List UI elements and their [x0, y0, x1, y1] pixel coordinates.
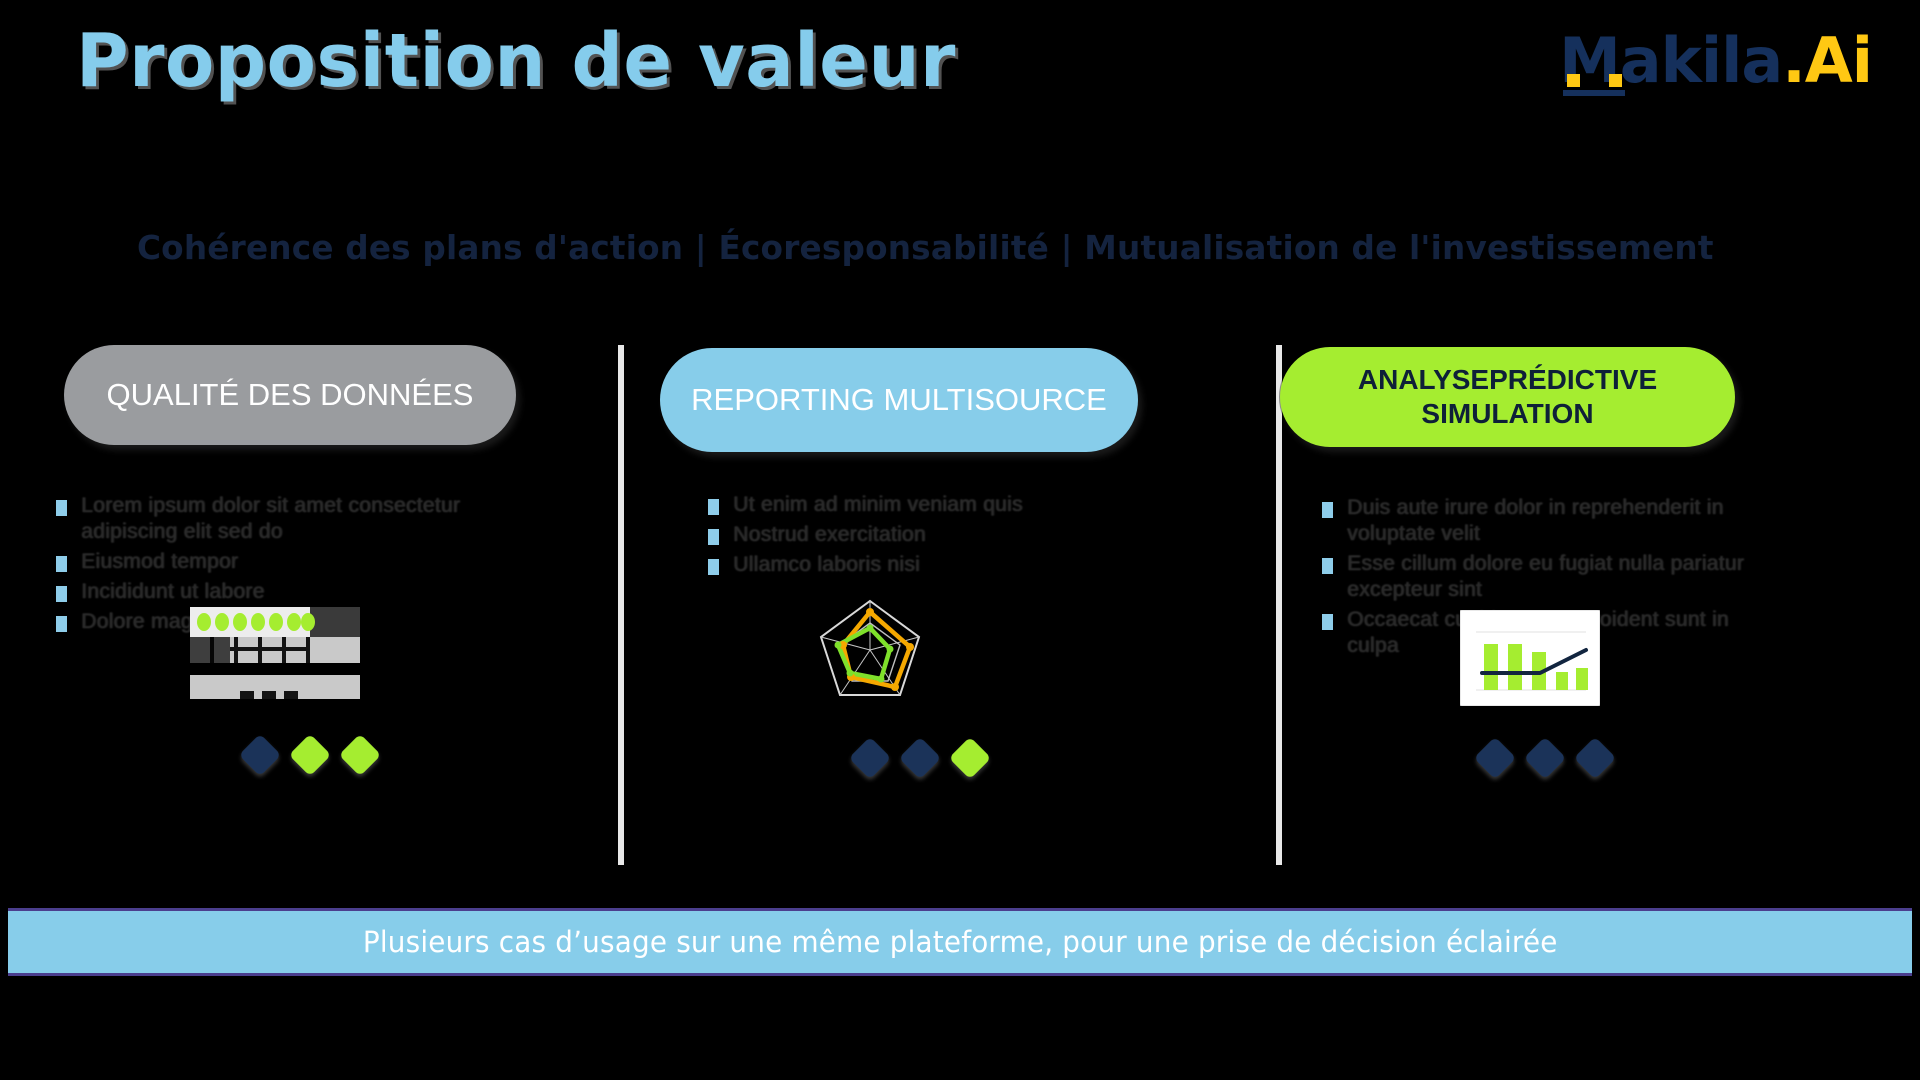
diamond-dot-icon	[949, 737, 991, 779]
column-reporting-multisource: REPORTING MULTISOURCE Ut enim ad minim v…	[660, 345, 1200, 890]
page-subtitle: Cohérence des plans d'action | Écorespon…	[137, 228, 1714, 267]
footer-banner-text: Plusieurs cas d’usage sur une même plate…	[363, 925, 1558, 959]
bullet-square-icon	[1322, 614, 1333, 630]
data-table-icon	[190, 607, 360, 707]
bullet-square-icon	[56, 616, 67, 632]
diamond-dot-icon	[899, 737, 941, 779]
list-item: Duis aute irure dolor in reprehenderit i…	[1322, 495, 1782, 547]
bar-line-chart-icon	[1460, 610, 1600, 711]
pill-label: ANALYSEPRÉDICTIVE SIMULATION	[1280, 363, 1735, 430]
logo-underline-rule	[1563, 90, 1625, 96]
makila-ai-logo: Makila .Ai	[1559, 22, 1872, 98]
bullet-text: Duis aute irure dolor in reprehenderit i…	[1347, 495, 1777, 547]
list-item: Ut enim ad minim veniam quis	[708, 492, 1168, 518]
diamond-dot-icon	[239, 734, 281, 776]
bullet-text: Lorem ipsum dolor sit amet consectetur a…	[81, 493, 511, 545]
diamond-dot-icon	[1574, 737, 1616, 779]
diamond-dot-icon	[1524, 737, 1566, 779]
bullet-square-icon	[1322, 502, 1333, 518]
bullet-text: Ullamco laboris nisi	[733, 552, 920, 578]
column-qualite-des-donnees: QUALITÉ DES DONNÉES Lorem ipsum dolor si…	[60, 345, 600, 890]
logo-square-accent-right	[1609, 74, 1622, 87]
radar-chart-icon	[815, 595, 925, 710]
pill-label: QUALITÉ DES DONNÉES	[107, 377, 474, 413]
pill-analyse-predictive-simulation[interactable]: ANALYSEPRÉDICTIVE SIMULATION	[1280, 347, 1735, 447]
list-item: Lorem ipsum dolor sit amet consectetur a…	[56, 493, 516, 545]
bullet-square-icon	[56, 500, 67, 516]
diamond-dot-icon	[289, 734, 331, 776]
logo-accent-text: .Ai	[1782, 24, 1872, 97]
bullet-square-icon	[56, 556, 67, 572]
bullet-text: Incididunt ut labore	[81, 579, 264, 605]
column-analyse-predictive-simulation: ANALYSEPRÉDICTIVE SIMULATION Duis aute i…	[1280, 345, 1820, 890]
diamond-dot-icon	[339, 734, 381, 776]
logo-square-accent-left	[1567, 74, 1580, 87]
bullet-text: Nostrud exercitation	[733, 522, 926, 548]
diamond-dot-icon	[849, 737, 891, 779]
footer-banner: Plusieurs cas d’usage sur une même plate…	[8, 908, 1912, 976]
bullet-text: Ut enim ad minim veniam quis	[733, 492, 1023, 518]
list-item: Eiusmod tempor	[56, 549, 516, 575]
bullet-text: Esse cillum dolore eu fugiat nulla paria…	[1347, 551, 1777, 603]
bullet-square-icon	[1322, 558, 1333, 574]
pill-qualite-des-donnees[interactable]: QUALITÉ DES DONNÉES	[64, 345, 516, 445]
diamond-dot-icon	[1474, 737, 1516, 779]
pill-label: REPORTING MULTISOURCE	[691, 382, 1107, 418]
column-divider-1	[618, 345, 624, 865]
list-item: Ullamco laboris nisi	[708, 552, 1168, 578]
bullet-list-2: Ut enim ad minim veniam quis Nostrud exe…	[708, 492, 1168, 582]
pill-reporting-multisource[interactable]: REPORTING MULTISOURCE	[660, 348, 1138, 452]
columns-container: QUALITÉ DES DONNÉES Lorem ipsum dolor si…	[0, 345, 1920, 890]
dot-row-1	[245, 740, 375, 770]
page-title: Proposition de valeur	[76, 18, 956, 104]
bullet-square-icon	[708, 499, 719, 515]
list-item: Incididunt ut labore	[56, 579, 516, 605]
slide-root: Proposition de valeur Makila .Ai Cohéren…	[0, 0, 1920, 1080]
list-item: Nostrud exercitation	[708, 522, 1168, 548]
list-item: Esse cillum dolore eu fugiat nulla paria…	[1322, 551, 1782, 603]
bullet-square-icon	[708, 559, 719, 575]
dot-row-2	[855, 743, 985, 773]
dot-row-3	[1480, 743, 1610, 773]
logo-primary-text: Makila	[1559, 24, 1782, 97]
bullet-square-icon	[56, 586, 67, 602]
bullet-text: Eiusmod tempor	[81, 549, 238, 575]
bullet-square-icon	[708, 529, 719, 545]
